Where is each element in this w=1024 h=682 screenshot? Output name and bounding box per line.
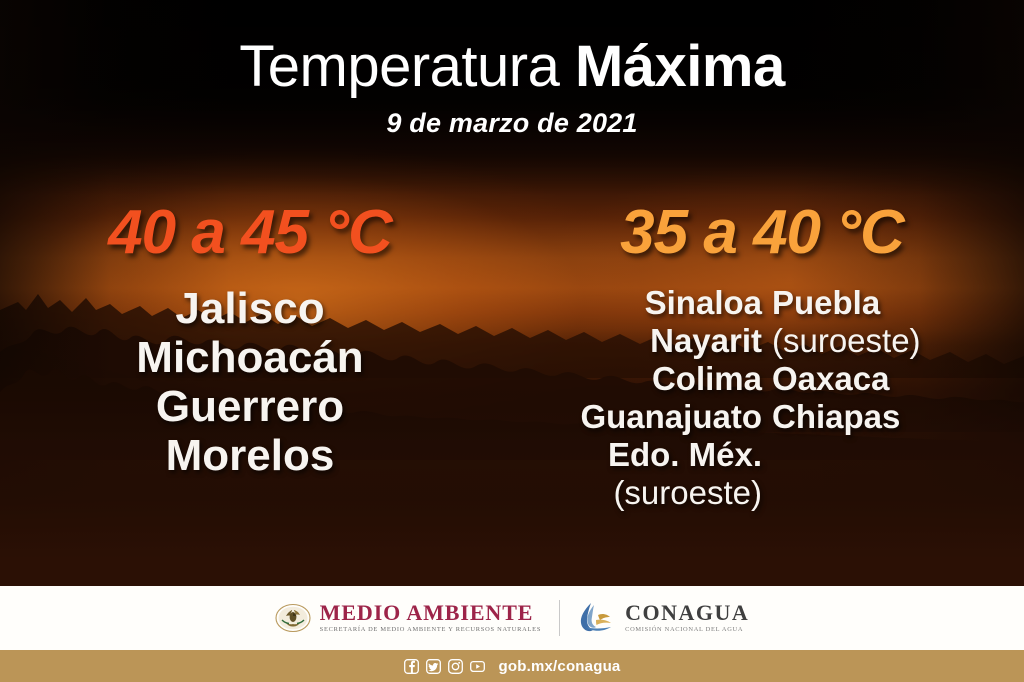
state-item: Morelos <box>0 431 500 480</box>
range-group-warm: 35 a 40 °C Sinaloa Nayarit Colima Guanaj… <box>500 196 1024 576</box>
range-group-hot: 40 a 45 °C Jalisco Michoacán Guerrero Mo… <box>0 196 500 576</box>
state-list-warm: Sinaloa Nayarit Colima Guanajuato Edo. M… <box>500 284 1024 512</box>
conagua-title: CONAGUA <box>625 600 749 625</box>
state-item: Guerrero <box>0 382 500 431</box>
date-subtitle: 9 de marzo de 2021 <box>0 106 1024 140</box>
mexican-eagle-emblem-icon <box>275 603 311 633</box>
page-title-light: Temperatura <box>239 34 575 99</box>
youtube-icon[interactable] <box>470 659 485 674</box>
page-title-bold: Máxima <box>575 34 785 99</box>
state-item: Chiapas <box>772 398 972 436</box>
state-item: Colima <box>552 360 762 398</box>
state-item: Sinaloa <box>552 284 762 322</box>
state-subcolumn-left: Sinaloa Nayarit Colima Guanajuato Edo. M… <box>552 284 762 512</box>
conagua-water-drop-icon <box>578 601 616 635</box>
state-item: Michoacán <box>0 333 500 382</box>
state-item: Nayarit <box>552 322 762 360</box>
medio-ambiente-title: MEDIO AMBIENTE <box>320 600 534 625</box>
range-label-warm: 35 a 40 °C <box>500 196 1024 270</box>
state-qualifier: (suroeste) <box>772 322 972 360</box>
logo-divider <box>559 600 560 636</box>
temperature-ranges: 40 a 45 °C Jalisco Michoacán Guerrero Mo… <box>0 196 1024 576</box>
state-item: Guanajuato <box>552 398 762 436</box>
header: Temperatura Máxima 9 de marzo de 2021 <box>0 34 1024 140</box>
state-item: Puebla <box>772 284 972 322</box>
state-item: Oaxaca <box>772 360 972 398</box>
state-subcolumn-right: Puebla (suroeste) Oaxaca Chiapas <box>772 284 972 436</box>
state-qualifier: (suroeste) <box>552 474 762 512</box>
facebook-icon[interactable] <box>404 659 419 674</box>
conagua-logo: CONAGUA COMISIÓN NACIONAL DEL AGUA <box>578 601 749 635</box>
page-title: Temperatura Máxima <box>0 34 1024 100</box>
state-item: Jalisco <box>0 284 500 333</box>
twitter-icon[interactable] <box>426 659 441 674</box>
footer-social-bar: gob.mx/conagua <box>0 650 1024 682</box>
website-url[interactable]: gob.mx/conagua <box>499 658 621 675</box>
footer-logo-strip: MEDIO AMBIENTE SECRETARÍA DE MEDIO AMBIE… <box>0 586 1024 650</box>
conagua-subtitle: COMISIÓN NACIONAL DEL AGUA <box>625 627 749 633</box>
state-list-hot: Jalisco Michoacán Guerrero Morelos <box>0 284 500 480</box>
instagram-icon[interactable] <box>448 659 463 674</box>
medio-ambiente-subtitle: SECRETARÍA DE MEDIO AMBIENTE Y RECURSOS … <box>320 627 541 633</box>
medio-ambiente-logo: MEDIO AMBIENTE SECRETARÍA DE MEDIO AMBIE… <box>275 602 541 633</box>
state-item: Edo. Méx. <box>552 436 762 474</box>
temperature-infographic: Temperatura Máxima 9 de marzo de 2021 40… <box>0 0 1024 682</box>
range-label-hot: 40 a 45 °C <box>0 196 500 270</box>
